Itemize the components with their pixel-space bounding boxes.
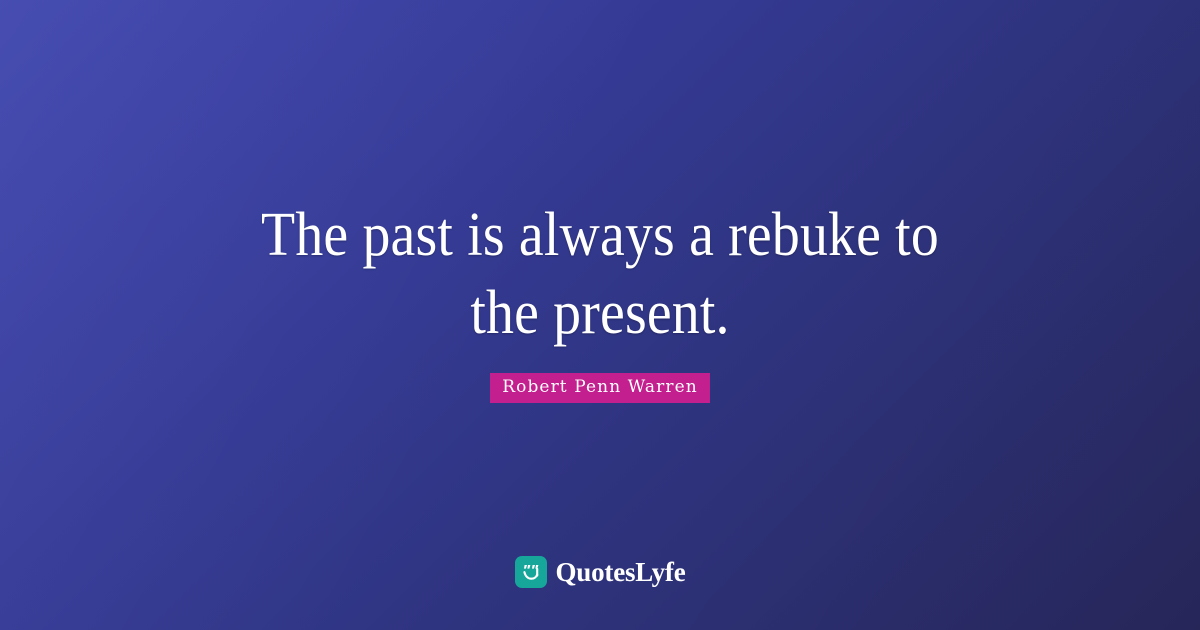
brand-name: QuotesLyfe bbox=[556, 557, 686, 587]
brand-logo[interactable]: QuotesLyfe bbox=[0, 556, 1200, 588]
quote-card: The past is always a rebuke to the prese… bbox=[0, 0, 1200, 630]
quote-block: The past is always a rebuke to the prese… bbox=[0, 196, 1200, 352]
author-attribution: Robert Penn Warren bbox=[0, 373, 1200, 403]
quote-line-2: the present. bbox=[141, 274, 1059, 352]
author-name-badge: Robert Penn Warren bbox=[490, 373, 710, 403]
quote-smiley-icon bbox=[515, 556, 547, 588]
quote-line-1: The past is always a rebuke to bbox=[141, 196, 1059, 274]
